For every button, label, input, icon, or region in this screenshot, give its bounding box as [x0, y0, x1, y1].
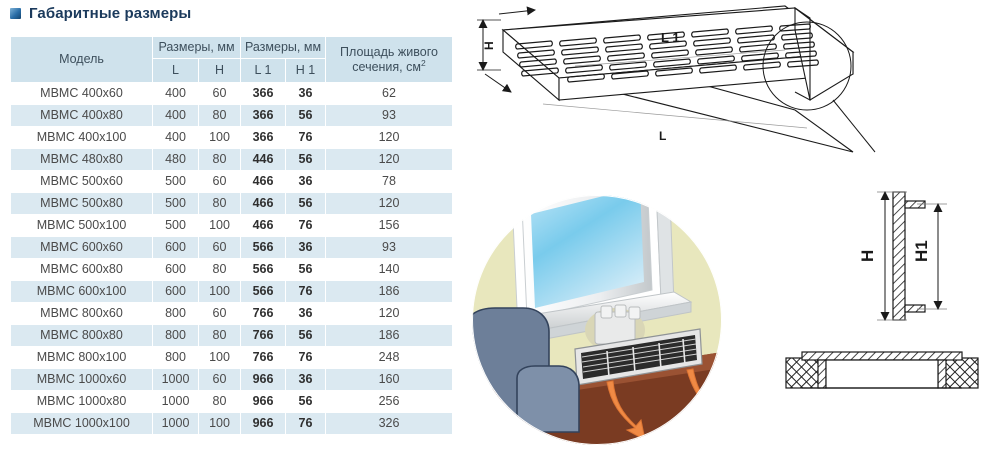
cell-area: 156 [326, 215, 453, 237]
cell-model: МВМС 400x60 [11, 83, 153, 105]
cell-area: 120 [326, 127, 453, 149]
cell-h: 60 [199, 83, 241, 105]
cell-l1: 446 [241, 149, 286, 171]
cell-h: 80 [199, 391, 241, 413]
cell-model: МВМС 500x60 [11, 171, 153, 193]
cell-model: МВМС 500x80 [11, 193, 153, 215]
table-row: МВМС 600x60600605663693 [11, 237, 453, 259]
cell-h1: 36 [286, 237, 326, 259]
specifications-table: Модель Размеры, мм Размеры, мм Площадь ж… [10, 36, 453, 435]
cell-h1: 36 [286, 171, 326, 193]
page-title-row: Габаритные размеры [10, 5, 191, 22]
cell-l: 800 [153, 303, 199, 325]
cell-h: 100 [199, 127, 241, 149]
cell-l: 800 [153, 347, 199, 369]
cell-h1: 76 [286, 215, 326, 237]
header-model: Модель [11, 37, 153, 83]
cell-area: 248 [326, 347, 453, 369]
cell-model: МВМС 1000x80 [11, 391, 153, 413]
dimension-label-H-iso: H [482, 41, 496, 50]
dimension-label-L1: L 1 [661, 30, 680, 45]
cell-l: 600 [153, 237, 199, 259]
dimension-label-H-section: H [858, 250, 877, 262]
cell-l: 480 [153, 149, 199, 171]
cell-h: 80 [199, 325, 241, 347]
cell-l: 600 [153, 281, 199, 303]
cell-area: 160 [326, 369, 453, 391]
table-row: МВМС 1000x6010006096636160 [11, 369, 453, 391]
table-row: МВМС 800x608006076636120 [11, 303, 453, 325]
cell-l: 500 [153, 171, 199, 193]
cell-l: 600 [153, 259, 199, 281]
cell-model: МВМС 1000x60 [11, 369, 153, 391]
cell-h1: 36 [286, 369, 326, 391]
header-free-area-line2: сечения, см [352, 60, 421, 74]
header-l1: L 1 [241, 59, 286, 83]
cell-l: 400 [153, 83, 199, 105]
cell-h: 60 [199, 369, 241, 391]
dimension-label-L: L [659, 129, 666, 143]
specifications-table-wrapper: Модель Размеры, мм Размеры, мм Площадь ж… [10, 36, 452, 435]
table-row: МВМС 800x808008076656186 [11, 325, 453, 347]
cell-h: 80 [199, 105, 241, 127]
cell-area: 256 [326, 391, 453, 413]
cell-l1: 366 [241, 127, 286, 149]
cell-l1: 566 [241, 259, 286, 281]
cell-area: 186 [326, 325, 453, 347]
header-free-area-line1: Площадь живого [340, 45, 438, 59]
cell-area: 120 [326, 149, 453, 171]
cell-model: МВМС 400x100 [11, 127, 153, 149]
table-row: МВМС 400x60400603663662 [11, 83, 453, 105]
cell-l: 400 [153, 105, 199, 127]
cell-area: 326 [326, 413, 453, 435]
cell-h1: 56 [286, 325, 326, 347]
cell-area: 120 [326, 303, 453, 325]
table-row: МВМС 600x806008056656140 [11, 259, 453, 281]
header-group-dimensions-2: Размеры, мм [241, 37, 326, 59]
cell-h1: 76 [286, 347, 326, 369]
cell-model: МВМС 400x80 [11, 105, 153, 127]
cell-l: 1000 [153, 413, 199, 435]
cell-model: МВМС 600x60 [11, 237, 153, 259]
cell-l1: 366 [241, 105, 286, 127]
table-body: МВМС 400x60400603663662МВМС 400x80400803… [11, 83, 453, 435]
header-h1: H 1 [286, 59, 326, 83]
cell-l1: 566 [241, 237, 286, 259]
cell-area: 62 [326, 83, 453, 105]
table-row: МВМС 480x804808044656120 [11, 149, 453, 171]
cell-h: 100 [199, 413, 241, 435]
cell-l: 400 [153, 127, 199, 149]
page-title: Габаритные размеры [29, 5, 191, 22]
cell-h1: 56 [286, 391, 326, 413]
cell-l: 500 [153, 193, 199, 215]
cell-h1: 76 [286, 281, 326, 303]
cell-model: МВМС 1000x100 [11, 413, 153, 435]
technical-drawings-area: L 1 L H H H1 [455, 0, 1001, 464]
cell-l: 1000 [153, 391, 199, 413]
cell-h: 60 [199, 237, 241, 259]
cell-model: МВМС 500x100 [11, 215, 153, 237]
header-free-area-superscript: 2 [421, 58, 426, 68]
cell-model: МВМС 800x60 [11, 303, 153, 325]
cell-h1: 56 [286, 149, 326, 171]
table-row: МВМС 500x60500604663678 [11, 171, 453, 193]
table-row: МВМС 1000x8010008096656256 [11, 391, 453, 413]
table-row: МВМС 400x80400803665693 [11, 105, 453, 127]
table-row: МВМС 400x10040010036676120 [11, 127, 453, 149]
table-row: МВМС 600x10060010056676186 [11, 281, 453, 303]
header-free-area: Площадь живого сечения, см2 [326, 37, 453, 83]
cell-h: 100 [199, 347, 241, 369]
table-row: МВМС 1000x100100010096676326 [11, 413, 453, 435]
cell-l1: 366 [241, 83, 286, 105]
dimension-label-H1-section: H1 [912, 240, 931, 262]
room-window-grille-illustration [465, 164, 727, 445]
cell-l1: 766 [241, 303, 286, 325]
cell-l1: 966 [241, 369, 286, 391]
cell-l1: 766 [241, 325, 286, 347]
cell-model: МВМС 800x100 [11, 347, 153, 369]
table-row: МВМС 500x10050010046676156 [11, 215, 453, 237]
cell-model: МВМС 480x80 [11, 149, 153, 171]
cell-h: 60 [199, 303, 241, 325]
blue-square-bullet-icon [10, 8, 21, 19]
cell-l1: 766 [241, 347, 286, 369]
header-group-dimensions-1: Размеры, мм [153, 37, 241, 59]
cell-area: 120 [326, 193, 453, 215]
cell-h1: 36 [286, 83, 326, 105]
cell-l: 500 [153, 215, 199, 237]
header-l: L [153, 59, 199, 83]
cell-l1: 966 [241, 413, 286, 435]
cell-h: 60 [199, 171, 241, 193]
cell-area: 186 [326, 281, 453, 303]
cell-h: 100 [199, 281, 241, 303]
header-h: H [199, 59, 241, 83]
cell-h: 100 [199, 215, 241, 237]
cell-model: МВМС 600x80 [11, 259, 153, 281]
cell-h1: 76 [286, 127, 326, 149]
cell-h: 80 [199, 149, 241, 171]
table-header: Модель Размеры, мм Размеры, мм Площадь ж… [11, 37, 453, 83]
cell-l1: 566 [241, 281, 286, 303]
cell-area: 93 [326, 105, 453, 127]
cell-l1: 466 [241, 193, 286, 215]
cell-h1: 56 [286, 193, 326, 215]
grille-mounting-cross-section [786, 352, 978, 388]
cell-area: 93 [326, 237, 453, 259]
cell-l1: 966 [241, 391, 286, 413]
cell-l1: 466 [241, 171, 286, 193]
table-row: МВМС 800x10080010076676248 [11, 347, 453, 369]
cell-area: 78 [326, 171, 453, 193]
cell-l: 1000 [153, 369, 199, 391]
cell-h1: 36 [286, 303, 326, 325]
cell-model: МВМС 800x80 [11, 325, 153, 347]
cell-h: 80 [199, 259, 241, 281]
cell-h1: 56 [286, 259, 326, 281]
cell-h: 80 [199, 193, 241, 215]
cell-l1: 466 [241, 215, 286, 237]
cell-area: 140 [326, 259, 453, 281]
cell-l: 800 [153, 325, 199, 347]
cell-h1: 76 [286, 413, 326, 435]
table-row: МВМС 500x805008046656120 [11, 193, 453, 215]
cell-model: МВМС 600x100 [11, 281, 153, 303]
cell-h1: 56 [286, 105, 326, 127]
ventilation-grille-isometric-drawing [477, 6, 875, 152]
